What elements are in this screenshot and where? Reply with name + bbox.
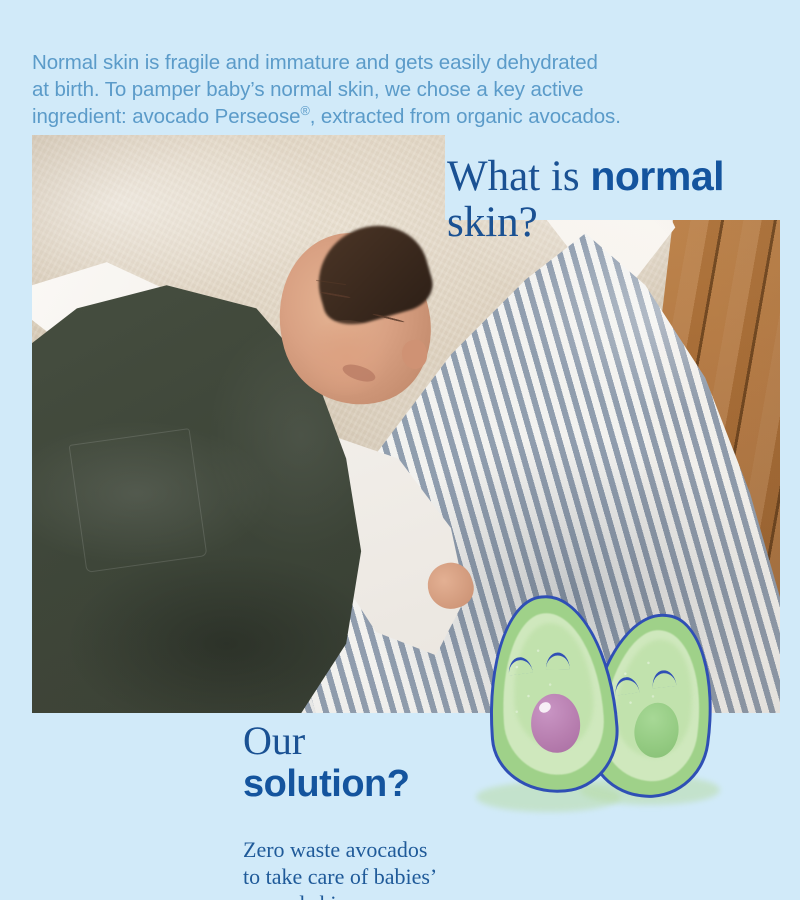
intro-line-2: at birth. To pamper baby’s normal skin, … — [32, 78, 583, 101]
solution-body: Zero waste avocados to take care of babi… — [243, 836, 503, 900]
intro-line-1: Normal skin is fragile and immature and … — [32, 51, 598, 74]
solution-body-line-1: Zero waste avocados — [243, 837, 427, 862]
intro-paragraph: Normal skin is fragile and immature and … — [32, 49, 712, 130]
avocado-illustration — [470, 585, 720, 845]
marketing-page: Normal skin is fragile and immature and … — [0, 0, 800, 900]
eye-icon — [546, 652, 570, 669]
title-part-2: skin? — [447, 199, 538, 246]
solution-body-line-3: normal skin. — [243, 891, 353, 900]
solution-line-1: Our — [243, 720, 493, 762]
title-emphasis: normal — [590, 153, 724, 199]
solution-heading: Our solution? — [243, 720, 493, 806]
intro-line-3-b: , extracted from organic avocados. — [310, 105, 621, 128]
avocado-left — [481, 591, 623, 797]
title-part-1: What is — [447, 153, 590, 200]
intro-line-3-a: ingredient: avocado Perseose — [32, 105, 300, 128]
solution-line-2: solution? — [243, 762, 493, 806]
page-title: What is normal skin? — [447, 154, 792, 247]
romper-pocket — [68, 428, 206, 573]
eye-icon — [613, 676, 639, 696]
baby-cheek — [301, 320, 391, 395]
registered-mark: ® — [300, 103, 309, 118]
solution-body-line-2: to take care of babies’ — [243, 864, 437, 889]
eye-icon — [651, 669, 677, 688]
eye-icon — [507, 656, 533, 676]
avocado-face-left — [481, 591, 623, 797]
